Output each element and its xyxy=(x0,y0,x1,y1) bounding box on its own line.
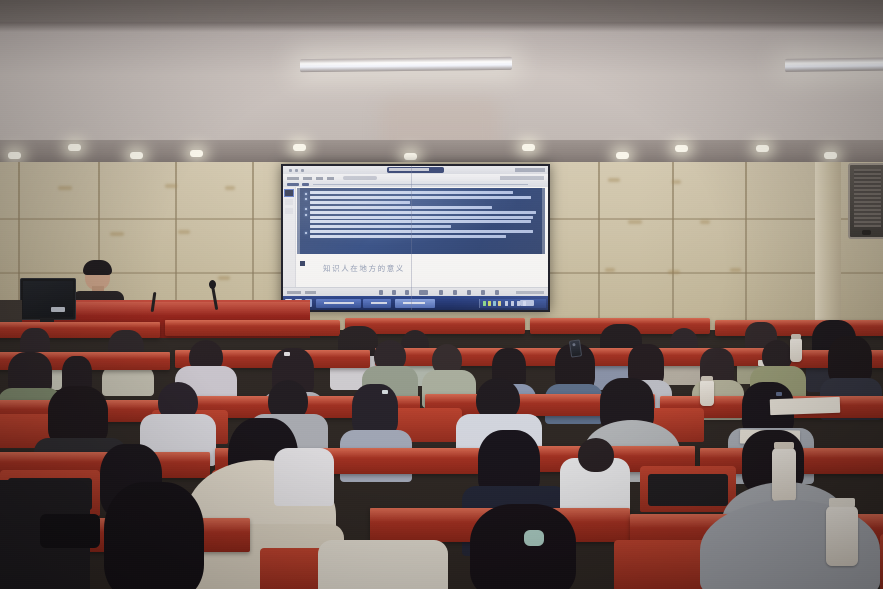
fluorescent-tube-light xyxy=(300,57,512,72)
panel-marking xyxy=(605,268,615,272)
panel-marking xyxy=(668,270,680,274)
microphone-head xyxy=(209,280,216,289)
water-bottle xyxy=(826,506,858,566)
fluorescent-tube-light xyxy=(785,57,883,72)
water-bottle xyxy=(790,338,802,362)
slide-title-area: 知识人在地方的意义 xyxy=(297,254,545,286)
slide-bullet xyxy=(305,230,538,238)
slide-thumbnail[interactable] xyxy=(285,208,293,214)
wall-speaker xyxy=(848,163,883,239)
slide-title: 知识人在地方的意义 xyxy=(323,263,405,274)
app-tab-label xyxy=(389,168,429,171)
downlight xyxy=(675,145,688,152)
wall-pillar xyxy=(815,162,841,330)
ribbon-right-group[interactable] xyxy=(500,176,544,180)
ribbon-search-box[interactable] xyxy=(343,176,377,180)
slide-bullet xyxy=(305,196,538,204)
wall-panel-seam xyxy=(672,162,674,330)
projection-screen: 知识人在地方的意义 xyxy=(283,166,548,310)
panel-marking xyxy=(165,184,177,188)
system-tray[interactable] xyxy=(479,299,546,308)
taskbar-window-button[interactable] xyxy=(363,299,391,308)
panel-marking xyxy=(110,232,124,236)
wall-panel-seam xyxy=(745,162,747,330)
window-controls[interactable] xyxy=(515,168,545,172)
slide-content-block xyxy=(297,188,545,254)
panel-marking xyxy=(672,180,681,184)
slide-marker xyxy=(300,261,305,266)
presenter-hair xyxy=(83,260,112,275)
hair-clip xyxy=(382,390,388,394)
panel-marking xyxy=(730,268,741,272)
downlight xyxy=(616,152,629,159)
slide-bullet-list xyxy=(305,191,538,240)
hair-clip xyxy=(776,392,782,396)
app-title-bar xyxy=(283,166,548,174)
water-bottle xyxy=(772,448,796,502)
slide-thumbnail[interactable] xyxy=(285,199,293,205)
ceiling-shadow xyxy=(0,22,883,32)
panel-marking xyxy=(58,186,72,190)
slide-bullet xyxy=(305,211,538,228)
panel-marking xyxy=(628,220,642,224)
smartphone[interactable] xyxy=(569,339,582,357)
lecture-hall-photo: 知识人在地方的意义 xyxy=(0,0,883,589)
slide-bullet xyxy=(305,191,538,194)
taskbar-window-button[interactable] xyxy=(395,299,435,308)
slide-bullet xyxy=(305,206,538,209)
panel-marking xyxy=(608,178,620,182)
desk-row-far xyxy=(165,320,340,336)
current-slide: 知识人在地方的意义 xyxy=(297,188,545,286)
seat-pad xyxy=(648,474,728,506)
downlight xyxy=(130,152,143,159)
ceiling-upper-band xyxy=(0,0,883,22)
downlight xyxy=(404,153,417,160)
podium-monitor xyxy=(20,278,76,320)
wall-panel-seam xyxy=(598,162,600,330)
water-bottle xyxy=(700,380,714,406)
downlight xyxy=(756,145,769,152)
taskbar-window-button[interactable] xyxy=(316,299,361,308)
hair-clip xyxy=(284,352,290,356)
panel-marking xyxy=(178,230,190,234)
downlight xyxy=(190,150,203,157)
handout-paper xyxy=(770,397,841,415)
downlight xyxy=(8,152,21,159)
downlight xyxy=(68,144,81,151)
desk-row-3 xyxy=(575,348,770,366)
slide-thumbnail-rail[interactable] xyxy=(283,187,296,287)
slide-thumbnail[interactable] xyxy=(285,190,293,196)
os-taskbar[interactable] xyxy=(283,296,548,310)
downlight xyxy=(824,152,837,159)
downlight xyxy=(522,144,535,151)
downlight xyxy=(293,144,306,151)
panel-marking xyxy=(218,276,230,280)
panel-marking xyxy=(700,220,710,224)
white-shirt xyxy=(274,448,334,506)
hair-clip xyxy=(524,530,544,546)
taskbar-clock[interactable] xyxy=(520,300,534,306)
panel-marking xyxy=(225,186,235,190)
